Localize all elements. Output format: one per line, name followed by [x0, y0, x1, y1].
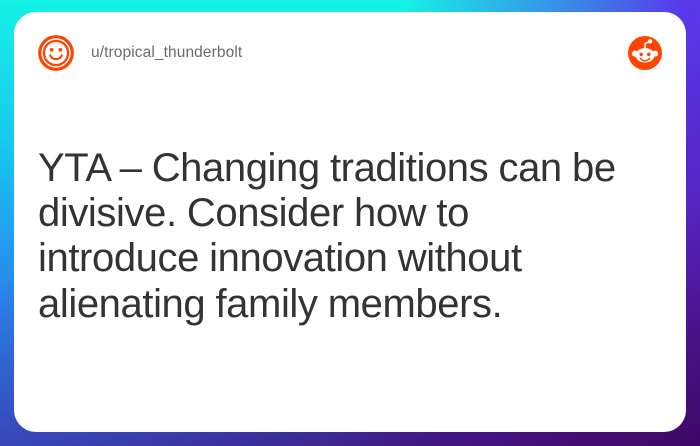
card-header: u/tropical_thunderbolt	[14, 12, 686, 94]
quote-card: u/tropical_thunderbolt	[14, 12, 686, 432]
username-label: u/tropical_thunderbolt	[91, 44, 242, 62]
reddit-snoo-icon[interactable]	[628, 36, 662, 70]
smiley-face-icon[interactable]	[36, 33, 76, 73]
card-body: YTA – Changing traditions can be divisiv…	[38, 146, 632, 327]
quote-text: YTA – Changing traditions can be divisiv…	[38, 146, 632, 327]
